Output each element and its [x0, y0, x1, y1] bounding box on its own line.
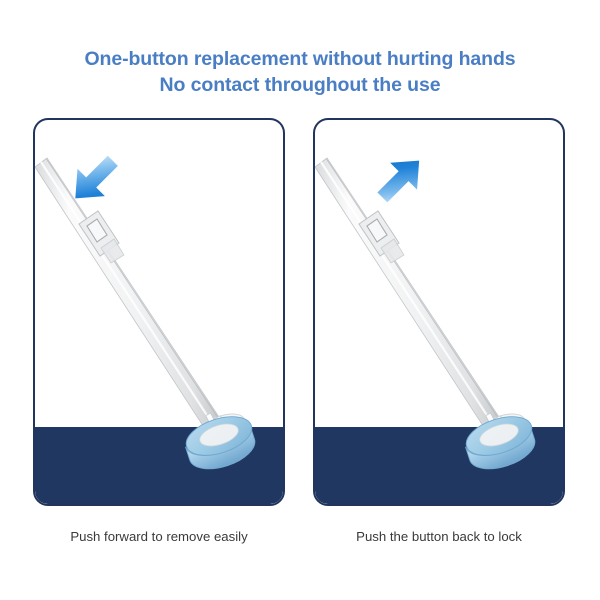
mop-illustration-lock [315, 120, 563, 504]
page-title-line-1: One-button replacement without hurting h… [0, 46, 600, 72]
mop-illustration-remove [35, 120, 283, 504]
mop-handle-edge-shadow [327, 159, 501, 421]
arrow-up-left-icon [369, 147, 433, 211]
panel-remove-content [35, 120, 283, 504]
mop-handle-group [315, 158, 501, 432]
illustration-panels [0, 118, 600, 510]
mop-pad-assembly [181, 406, 260, 476]
panel-lock [313, 118, 565, 506]
panel-captions: Push forward to remove easily Push the b… [0, 527, 600, 551]
mop-pad-assembly [461, 406, 540, 476]
caption-remove: Push forward to remove easily [33, 527, 285, 547]
mop-handle-highlight [41, 162, 214, 426]
panel-remove [33, 118, 285, 506]
mop-handle-edge-shadow [47, 159, 221, 421]
caption-lock: Push the button back to lock [313, 527, 565, 547]
mop-handle-group [35, 158, 221, 432]
mop-handle-highlight [321, 162, 494, 426]
panel-lock-content [315, 120, 563, 504]
page-title: One-button replacement without hurting h… [0, 46, 600, 98]
page-title-line-2: No contact throughout the use [0, 72, 600, 98]
